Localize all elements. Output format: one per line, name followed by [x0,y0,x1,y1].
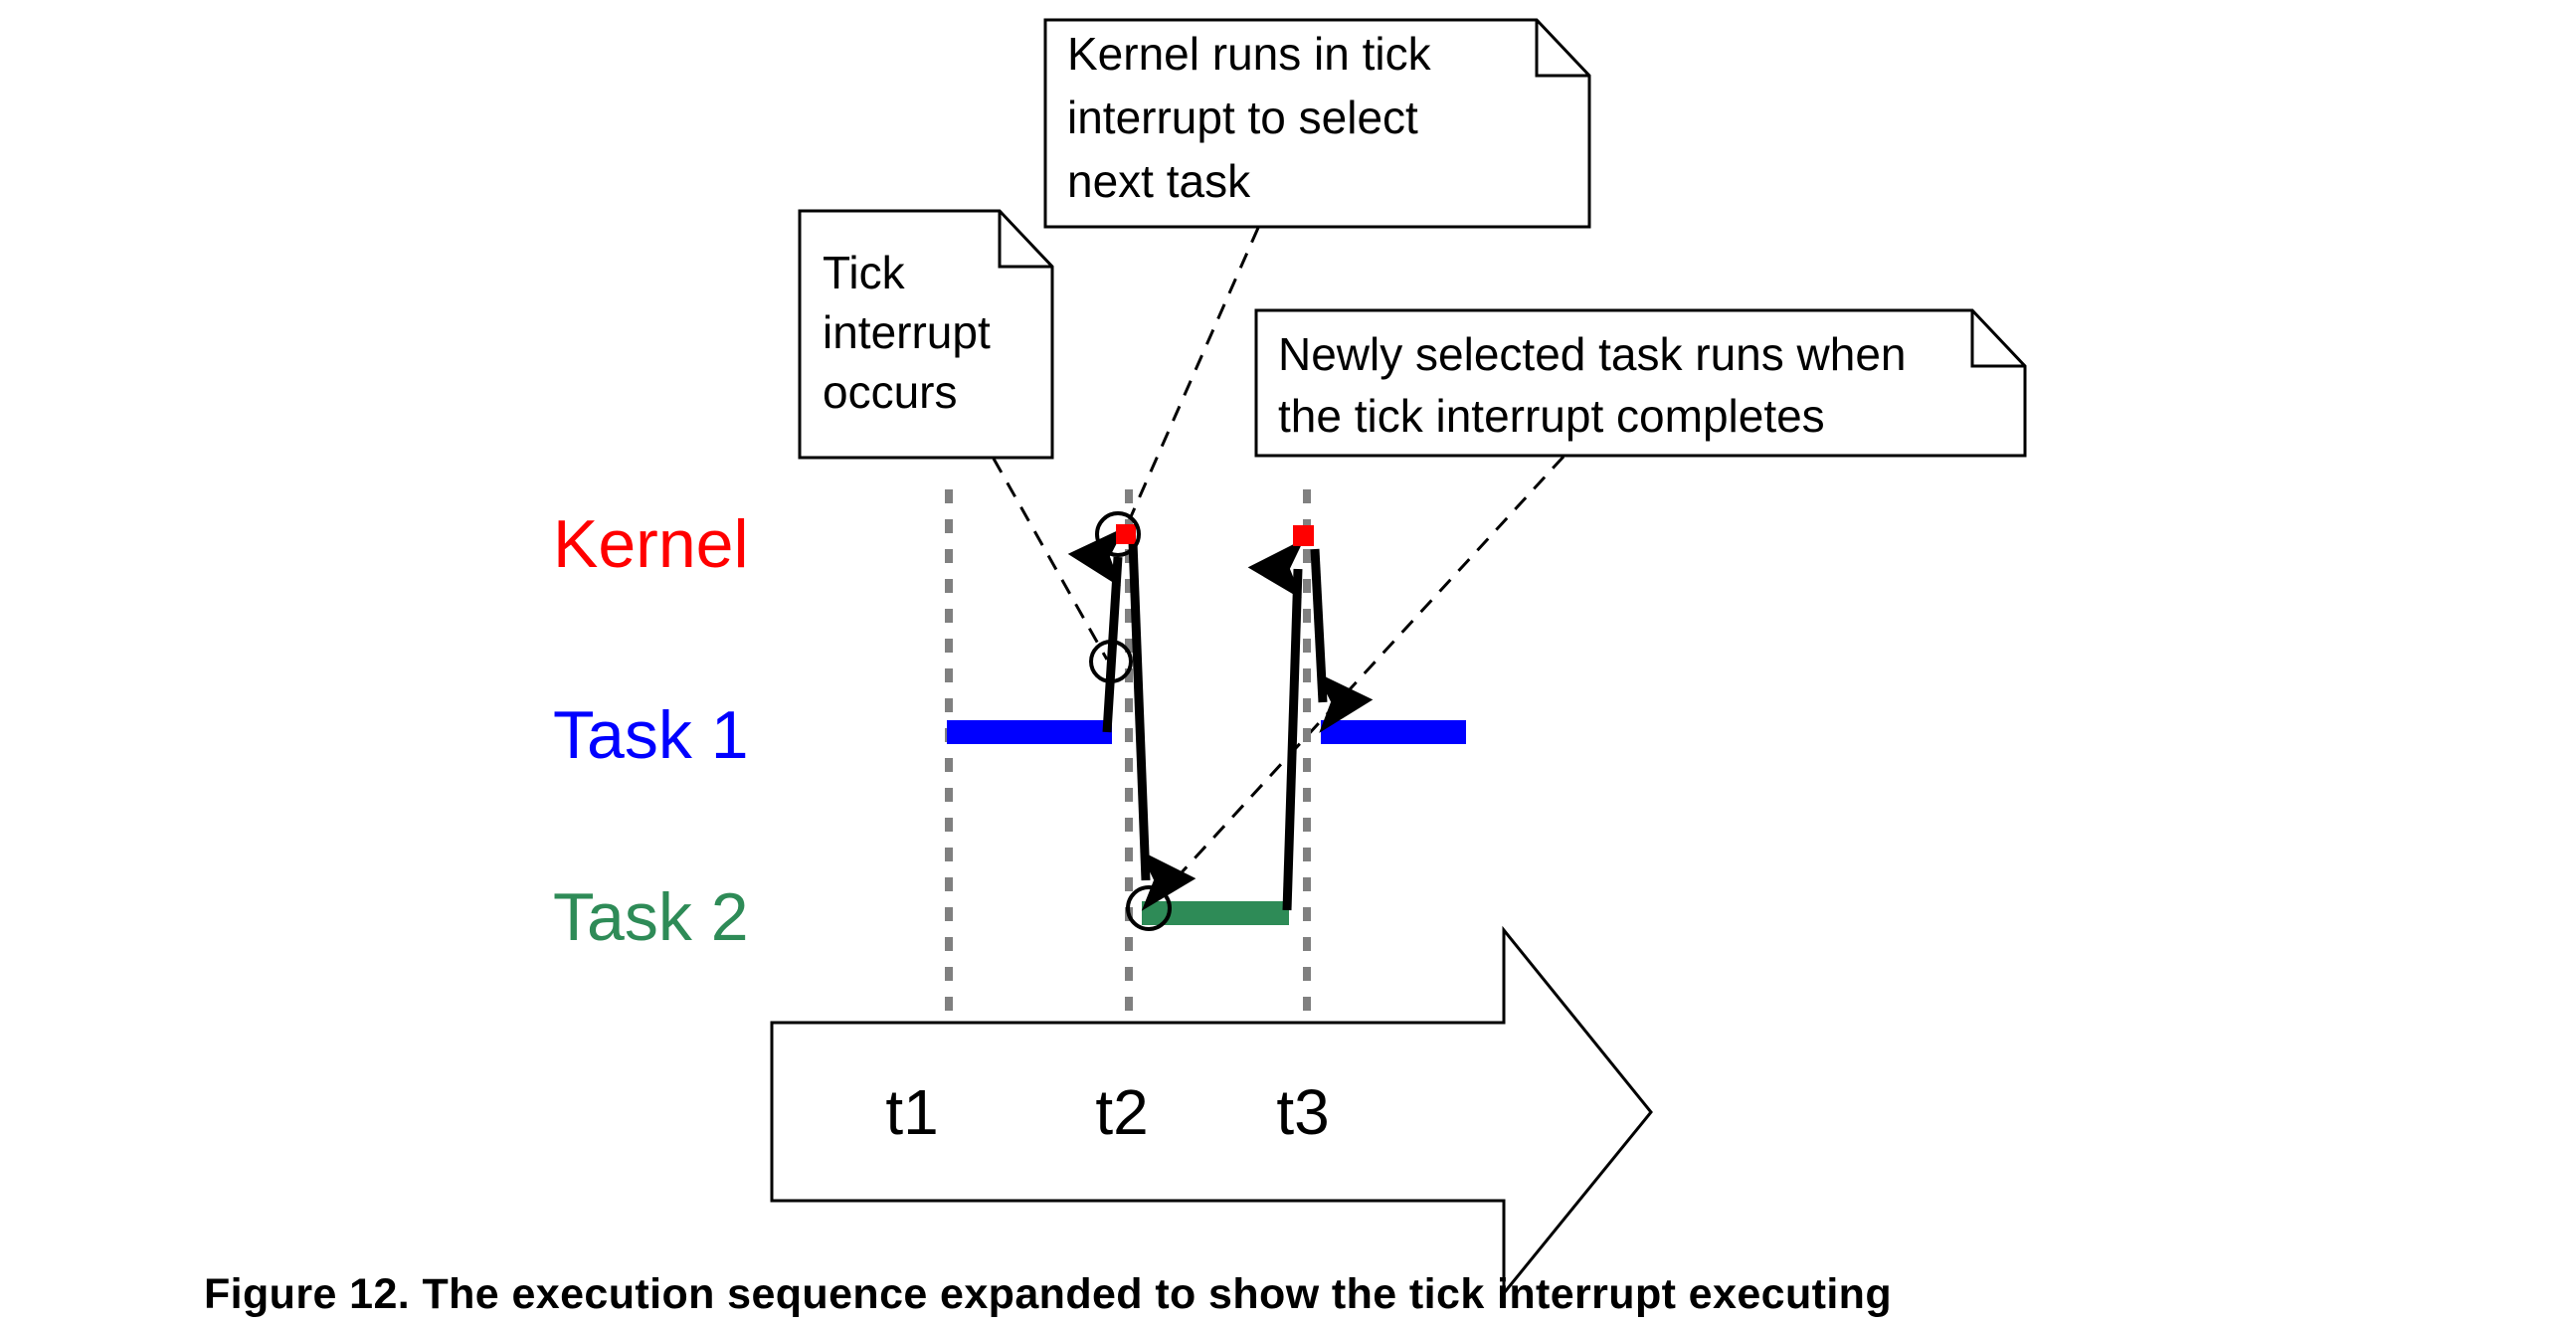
execution-bar-task1-second [1321,720,1466,744]
callout-newly-selected-task-runs: Newly selected task runs when the tick i… [1256,310,2025,456]
tick-gridlines [949,489,1307,1025]
arrow-task1-to-kernel-t2 [1107,557,1118,732]
callout-line: the tick interrupt completes [1278,390,1825,442]
figure-caption: Figure 12. The execution sequence expand… [204,1270,1892,1318]
kernel-event-marker-t3 [1293,525,1314,546]
callout-line: interrupt [823,306,991,358]
tick-label-t1: t1 [885,1076,938,1148]
leader-line-kernel-runs [1125,228,1258,530]
leader-line-newly-selected-task [1149,457,1564,908]
arrow-kernel-to-task1-t3 [1315,549,1323,702]
row-label-task-2: Task 2 [553,879,749,955]
callout-tick-interrupt-occurs: Tick interrupt occurs [800,211,1052,458]
callout-line: interrupt to select [1067,92,1418,143]
callout-line: Kernel runs in tick [1067,28,1432,80]
figure-container: Kernel runs in tick interrupt to select … [0,0,2576,1327]
tick-label-t2: t2 [1095,1076,1148,1148]
execution-bar-task1-first [947,720,1112,744]
time-axis-arrow: t1 t2 t3 [772,930,1651,1293]
row-label-task-1: Task 1 [553,697,749,773]
arrow-task2-to-kernel-t3 [1287,569,1298,910]
callout-line: Tick [823,247,906,298]
arrow-kernel-to-task2-t2 [1133,542,1146,880]
execution-sequence-diagram: Kernel runs in tick interrupt to select … [0,0,2576,1327]
callout-kernel-runs-in-tick-interrupt: Kernel runs in tick interrupt to select … [1045,20,1589,227]
callout-line: occurs [823,366,957,418]
tick-label-t3: t3 [1276,1076,1329,1148]
leader-line-tick-interrupt-occurs [994,459,1107,660]
row-label-kernel: Kernel [553,506,749,582]
kernel-event-marker-t2 [1116,524,1136,544]
callout-line: next task [1067,155,1251,207]
callout-line: Newly selected task runs when [1278,328,1907,380]
